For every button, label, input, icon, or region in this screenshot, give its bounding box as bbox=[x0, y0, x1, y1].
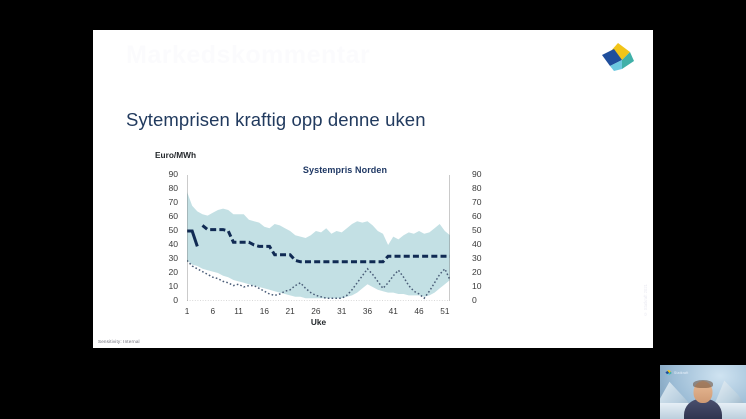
y-axis-right-tick: 30 bbox=[472, 253, 494, 263]
slide-watermark-text: Markedskommentar bbox=[126, 41, 426, 81]
sensitivity-note: Sensitivity: Internal bbox=[98, 339, 140, 344]
x-axis-tick: 11 bbox=[234, 306, 243, 316]
y-axis-right-tick: 50 bbox=[472, 225, 494, 235]
y-axis-left-tick: 90 bbox=[156, 169, 178, 179]
x-axis-label: Uke bbox=[167, 317, 470, 327]
statkraft-logo bbox=[600, 41, 636, 73]
x-axis-tick: 1 bbox=[185, 306, 190, 316]
webcam-person-hair bbox=[693, 380, 713, 388]
x-axis-tick: 36 bbox=[363, 306, 372, 316]
webcam-logo-overlay: Statkraft bbox=[665, 369, 688, 376]
y-axis-right-tick: 60 bbox=[472, 211, 494, 221]
x-axis-tick: 51 bbox=[440, 306, 449, 316]
webcam-logo-text: Statkraft bbox=[674, 371, 688, 375]
y-axis-left-tick: 50 bbox=[156, 225, 178, 235]
x-axis-tick: 31 bbox=[337, 306, 346, 316]
x-axis-tick: 16 bbox=[260, 306, 269, 316]
chart-legend: Maks/min 2011-20202021Prognose 20212020 bbox=[173, 346, 543, 348]
page-title: Sytemprisen kraftig opp denne uken bbox=[126, 109, 426, 131]
y-axis-right-tick: 40 bbox=[472, 239, 494, 249]
copyright-credit: © Statkraft 2021 bbox=[643, 284, 648, 316]
chart-plot-area bbox=[187, 175, 450, 301]
video-player-stage: Markedskommentar Sytemprisen kraftig opp… bbox=[0, 0, 746, 419]
x-axis-tick: 21 bbox=[286, 306, 295, 316]
presenter-webcam[interactable]: Statkraft bbox=[660, 365, 746, 419]
y-axis-right-tick: 70 bbox=[472, 197, 494, 207]
y-axis-left-tick: 70 bbox=[156, 197, 178, 207]
y-axis-left-tick: 0 bbox=[156, 295, 178, 305]
y-axis-left-tick: 30 bbox=[156, 253, 178, 263]
x-axis-tick: 46 bbox=[414, 306, 423, 316]
y-axis-right-tick: 0 bbox=[472, 295, 494, 305]
x-axis-tick: 26 bbox=[311, 306, 320, 316]
chart-systempris-norden: Euro/MWh Systempris Norden 9080706050403… bbox=[150, 161, 540, 336]
presentation-slide: Markedskommentar Sytemprisen kraftig opp… bbox=[93, 30, 653, 348]
y-axis-left-tick: 60 bbox=[156, 211, 178, 221]
y-axis-right-tick: 20 bbox=[472, 267, 494, 277]
y-axis-unit-label: Euro/MWh bbox=[155, 150, 196, 160]
y-axis-left-tick: 10 bbox=[156, 281, 178, 291]
y-axis-right-tick: 80 bbox=[472, 183, 494, 193]
y-axis-left-tick: 20 bbox=[156, 267, 178, 277]
y-axis-left-tick: 80 bbox=[156, 183, 178, 193]
y-axis-left-tick: 40 bbox=[156, 239, 178, 249]
webcam-person bbox=[683, 381, 723, 419]
y-axis-right-tick: 90 bbox=[472, 169, 494, 179]
x-axis-tick: 41 bbox=[389, 306, 398, 316]
x-axis-tick: 6 bbox=[210, 306, 215, 316]
statkraft-logo-small bbox=[665, 369, 672, 376]
y-axis-right-tick: 10 bbox=[472, 281, 494, 291]
